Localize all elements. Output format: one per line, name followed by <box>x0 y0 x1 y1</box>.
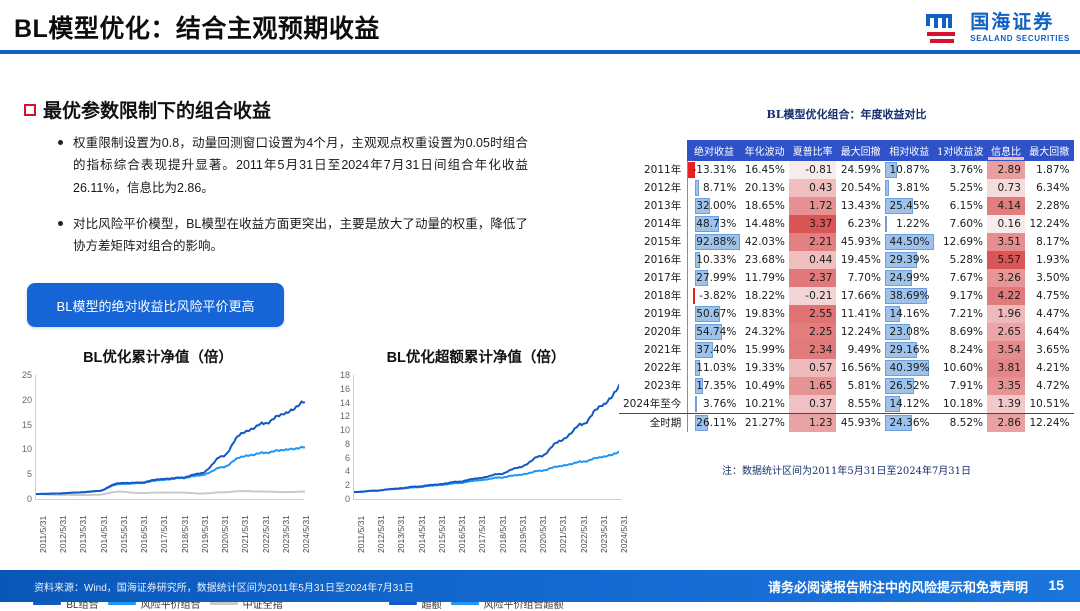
page-title: BL模型优化：结合主观预期收益 <box>14 9 380 45</box>
table-cell: 3.81 <box>987 359 1025 377</box>
cell-value: 7.70% <box>848 272 881 284</box>
cell-value: 17.66% <box>841 290 881 302</box>
cell-value: 14.12% <box>889 398 929 410</box>
cell-value: 1.87% <box>1036 164 1069 176</box>
table-cell: 11.79% <box>740 269 789 287</box>
table-row: 2024年至今3.76%10.21%0.378.55%14.12%10.18%1… <box>619 395 1074 414</box>
y-tick-label: 0 <box>345 494 350 504</box>
square-bullet-icon <box>24 104 36 116</box>
table-row-label: 2018年 <box>619 287 688 305</box>
cell-value: 26.11% <box>696 417 736 429</box>
table-row-label: 2012年 <box>619 179 688 197</box>
table-cell: 2.89 <box>987 161 1025 179</box>
table-cell: 8.69% <box>934 323 987 341</box>
cell-value: 9.49% <box>848 344 881 356</box>
series-line <box>354 451 623 492</box>
table-row: 全时期26.11%21.27%1.2345.93%24.36%8.52%2.86… <box>619 413 1074 432</box>
list-item: 权重限制设置为0.8，动量回测窗口设置为4个月，主观观点权重设置为0.05时组合… <box>58 132 528 199</box>
table-row-label: 2019年 <box>619 305 688 323</box>
x-tick-label: 2011/5/31 <box>356 516 366 553</box>
cell-value: -0.21 <box>805 290 832 302</box>
plot-box <box>35 375 304 500</box>
cell-value: 3.76% <box>703 398 736 410</box>
y-tick-label: 10 <box>340 425 350 435</box>
x-tick-label: 2024/5/31 <box>619 515 629 553</box>
cell-value: 10.49% <box>745 380 785 392</box>
x-tick-label: 2018/5/31 <box>180 515 190 553</box>
cell-value: 5.28% <box>950 254 983 266</box>
table-row-label: 2011年 <box>619 161 688 179</box>
cell-value: 5.57 <box>998 254 1021 266</box>
cell-value: 13.43% <box>841 200 881 212</box>
table-cell: 44.50% <box>885 233 934 251</box>
table-cell: 1.96 <box>987 305 1025 323</box>
bullet-text: 对比风险平价模型，BL模型在收益方面更突出，主要是放大了动量的权重，降低了协方差… <box>73 213 528 258</box>
cell-value: 5.81% <box>848 380 881 392</box>
x-tick-label: 2019/5/31 <box>200 515 210 553</box>
table-cell: 3.51 <box>987 233 1025 251</box>
cell-value: 24.32% <box>745 326 785 338</box>
cell-value: -0.81 <box>805 164 832 176</box>
y-tick-label: 20 <box>22 395 32 405</box>
table-cell: 2.34 <box>789 341 837 359</box>
table-cell: 40.39% <box>885 359 934 377</box>
y-tick-label: 5 <box>27 469 32 479</box>
table-row: 2014年48.73%14.48%3.376.23%1.22%7.60%0.16… <box>619 215 1074 233</box>
table-cell: 1.93% <box>1025 251 1074 269</box>
y-tick-label: 18 <box>340 370 350 380</box>
cell-value: 11.03% <box>696 362 736 374</box>
slide: BL模型优化：结合主观预期收益 <box>0 0 1080 602</box>
cell-value: 0.44 <box>809 254 832 266</box>
table-cell: 4.64% <box>1025 323 1074 341</box>
cell-value: 2.34 <box>809 344 832 356</box>
sealand-logo-icon <box>922 10 962 46</box>
chart-title: BL优化累计净值（倍） <box>8 346 308 367</box>
chart-plot-area: 0510152025 2011/5/312012/5/312013/5/3120… <box>8 375 308 505</box>
cell-data-bar <box>693 288 695 304</box>
cell-value: 2.37 <box>809 272 832 284</box>
cell-value: 38.69% <box>889 290 929 302</box>
table-cell: 7.91% <box>934 377 987 395</box>
table-cell: 1.72 <box>789 197 837 215</box>
y-tick-label: 16 <box>340 384 350 394</box>
table-row-label: 2017年 <box>619 269 688 287</box>
cell-value: 1.23 <box>809 417 832 429</box>
cell-value: 42.03% <box>745 236 785 248</box>
cell-data-bar <box>695 180 699 196</box>
table-cell: 4.21% <box>1025 359 1074 377</box>
table-cell: 4.47% <box>1025 305 1074 323</box>
table-cell: 38.69% <box>885 287 934 305</box>
cell-value: 3.37 <box>809 218 832 230</box>
cell-value: 3.54 <box>998 344 1021 356</box>
cell-value: 8.55% <box>848 398 881 410</box>
cell-data-bar <box>885 216 887 232</box>
x-tick-label: 2021/5/31 <box>240 515 250 553</box>
x-tick-label: 2012/5/31 <box>58 515 68 553</box>
cell-value: 8.69% <box>950 326 983 338</box>
table-cell: 2.25 <box>789 323 837 341</box>
table-title: BL模型优化组合：年度收益对比 <box>619 106 1074 122</box>
bullet-dot-icon <box>58 221 63 226</box>
table-row: 2022年11.03%19.33%0.5716.56%40.39%10.60%3… <box>619 359 1074 377</box>
table-cell: 17.66% <box>836 287 884 305</box>
cell-value: 23.08% <box>889 326 929 338</box>
cell-value: 6.15% <box>950 200 983 212</box>
cell-value: 26.52% <box>889 380 929 392</box>
x-tick-label: 2014/5/31 <box>99 515 109 553</box>
table-cell: 37.40% <box>688 341 741 359</box>
y-tick-label: 12 <box>340 411 350 421</box>
bullet-text: 权重限制设置为0.8，动量回测窗口设置为4个月，主观观点权重设置为0.05时组合… <box>73 132 528 199</box>
legend-swatch <box>108 602 136 605</box>
cell-value: 21.27% <box>745 417 785 429</box>
table-cell: 54.74% <box>688 323 741 341</box>
table-row-label: 2021年 <box>619 341 688 359</box>
table-header-row: 绝对收益年化波动夏普比率最大回撤相对收益1对收益波信息比最大回撤 <box>619 141 1074 161</box>
table-cell: 1.87% <box>1025 161 1074 179</box>
cell-value: 16.56% <box>841 362 881 374</box>
cell-value: 19.45% <box>841 254 881 266</box>
table-cell: 19.83% <box>740 305 789 323</box>
table-cell: 9.17% <box>934 287 987 305</box>
cell-data-bar <box>885 180 889 196</box>
cell-value: 0.43 <box>809 182 832 194</box>
table-row: 2016年10.33%23.68%0.4419.45%29.39%5.28%5.… <box>619 251 1074 269</box>
table-cell: 1.23 <box>789 413 837 432</box>
table-cell: 24.59% <box>836 161 884 179</box>
cell-value: 17.35% <box>696 380 736 392</box>
x-tick-label: 2020/5/31 <box>538 515 548 553</box>
x-tick-label: 2017/5/31 <box>159 515 169 553</box>
cell-value: 3.81 <box>998 362 1021 374</box>
legend-swatch <box>451 602 479 605</box>
table-cell: 7.21% <box>934 305 987 323</box>
table-cell: 27.99% <box>688 269 741 287</box>
table-row: 2019年50.67%19.83%2.5511.41%14.16%7.21%1.… <box>619 305 1074 323</box>
y-tick-label: 8 <box>345 439 350 449</box>
cell-value: 10.51% <box>1029 398 1069 410</box>
table-cell: 14.12% <box>885 395 934 414</box>
cell-value: 2.21 <box>809 236 832 248</box>
cell-value: 3.35 <box>998 380 1021 392</box>
cell-value: 6.23% <box>848 218 881 230</box>
table-row-label: 2023年 <box>619 377 688 395</box>
table-cell: 3.35 <box>987 377 1025 395</box>
cell-value: 12.24% <box>1029 417 1069 429</box>
x-tick-label: 2016/5/31 <box>457 515 467 553</box>
table-cell: 2.37 <box>789 269 837 287</box>
table-row-label: 全时期 <box>619 413 688 432</box>
x-tick-label: 2011/5/31 <box>38 516 48 553</box>
cell-value: 0.16 <box>998 218 1021 230</box>
table-cell: 1.39 <box>987 395 1025 414</box>
table-cell: 29.16% <box>885 341 934 359</box>
table-column-header: 1对收益波 <box>934 141 987 161</box>
table-cell: 24.99% <box>885 269 934 287</box>
slide-footer: 资料来源：Wind，国海证券研究所，数据统计区间为2011年5月31日至2024… <box>0 570 1080 602</box>
series-line <box>354 384 623 492</box>
table-cell: 11.03% <box>688 359 741 377</box>
table-row: 2023年17.35%10.49%1.655.81%26.52%7.91%3.3… <box>619 377 1074 395</box>
cell-value: 20.54% <box>841 182 881 194</box>
cell-value: 11.41% <box>841 308 881 320</box>
footer-source: 资料来源：Wind，国海证券研究所，数据统计区间为2011年5月31日至2024… <box>34 579 414 594</box>
bullet-dot-icon <box>58 140 63 145</box>
legend-swatch <box>210 602 238 605</box>
table-cell: 17.35% <box>688 377 741 395</box>
table-cell: 45.93% <box>836 413 884 432</box>
cell-value: 10.33% <box>696 254 736 266</box>
table-cell: 5.28% <box>934 251 987 269</box>
table-row-label: 2024年至今 <box>619 395 688 414</box>
cell-value: 10.87% <box>889 164 929 176</box>
callout-label: BL模型的绝对收益比风险平价更高 <box>57 296 255 315</box>
legend-swatch <box>389 602 417 605</box>
cell-value: 2.65 <box>998 326 1021 338</box>
cell-value: 29.39% <box>889 254 929 266</box>
cell-value: 2.86 <box>998 417 1021 429</box>
table-cell: 92.88% <box>688 233 741 251</box>
table-corner-cell <box>619 141 688 161</box>
cell-value: 48.73% <box>696 218 736 230</box>
cell-value: 3.50% <box>1036 272 1069 284</box>
cell-data-bar <box>695 396 697 412</box>
series-line <box>36 447 305 494</box>
y-tick-label: 6 <box>345 453 350 463</box>
x-tick-label: 2015/5/31 <box>437 515 447 553</box>
cell-value: 1.65 <box>809 380 832 392</box>
y-axis-labels: 024681012141618 <box>326 375 352 505</box>
cell-value: 44.50% <box>889 236 929 248</box>
table-cell: 19.33% <box>740 359 789 377</box>
x-tick-label: 2019/5/31 <box>518 515 528 553</box>
table-row-label: 2015年 <box>619 233 688 251</box>
cell-value: 25.45% <box>889 200 929 212</box>
logo-company-name-en: SEALAND SECURITIES <box>970 35 1070 43</box>
cell-value: 50.67% <box>696 308 736 320</box>
table-row: 2018年-3.82%18.22%-0.2117.66%38.69%9.17%4… <box>619 287 1074 305</box>
table-cell: 2.28% <box>1025 197 1074 215</box>
cell-value: 24.36% <box>889 417 929 429</box>
x-tick-label: 2023/5/31 <box>599 515 609 553</box>
table-cell: 14.16% <box>885 305 934 323</box>
cell-value: 7.60% <box>950 218 983 230</box>
cell-value: 16.45% <box>745 164 785 176</box>
y-tick-label: 2 <box>345 480 350 490</box>
table-cell: 4.72% <box>1025 377 1074 395</box>
cell-value: 1.93% <box>1036 254 1069 266</box>
table-cell: 18.22% <box>740 287 789 305</box>
line-series-svg <box>36 375 305 499</box>
table-row: 2012年8.71%20.13%0.4320.54%3.81%5.25%0.73… <box>619 179 1074 197</box>
cell-value: 3.76% <box>950 164 983 176</box>
cell-value: 8.24% <box>950 344 983 356</box>
table-cell: 7.67% <box>934 269 987 287</box>
cell-value: 10.60% <box>943 362 983 374</box>
table-cell: 6.15% <box>934 197 987 215</box>
chart-plot-area: 024681012141618 2011/5/312012/5/312013/5… <box>326 375 626 505</box>
cell-value: 3.51 <box>998 236 1021 248</box>
cell-value: 5.25% <box>950 182 983 194</box>
y-tick-label: 15 <box>22 420 32 430</box>
cell-value: 0.57 <box>809 362 832 374</box>
table-cell: 0.73 <box>987 179 1025 197</box>
section-heading: 最优参数限制下的组合收益 <box>24 96 271 123</box>
cell-value: 15.99% <box>745 344 785 356</box>
section-heading-label: 最优参数限制下的组合收益 <box>43 96 271 123</box>
cell-value: 45.93% <box>841 236 881 248</box>
table-cell: -0.81 <box>789 161 837 179</box>
x-tick-label: 2017/5/31 <box>477 515 487 553</box>
table-cell: -3.82% <box>688 287 741 305</box>
bullet-list: 权重限制设置为0.8，动量回测窗口设置为4个月，主观观点权重设置为0.05时组合… <box>58 132 528 271</box>
table-row-label: 2016年 <box>619 251 688 269</box>
table-cell: 8.71% <box>688 179 741 197</box>
footer-disclaimer: 请务必阅读报告附注中的风险提示和免责声明 <box>768 577 1028 596</box>
table-cell: 5.57 <box>987 251 1025 269</box>
x-tick-label: 2022/5/31 <box>261 515 271 553</box>
table-cell: 3.76% <box>688 395 741 414</box>
cell-value: 2.89 <box>998 164 1021 176</box>
y-tick-label: 10 <box>22 444 32 454</box>
table-cell: -13.31% <box>688 161 741 179</box>
table-cell: 13.43% <box>836 197 884 215</box>
cell-value: 4.21% <box>1036 362 1069 374</box>
cell-value: 24.99% <box>889 272 929 284</box>
table-cell: 4.14 <box>987 197 1025 215</box>
table-cell: 10.21% <box>740 395 789 414</box>
table-cell: 6.34% <box>1025 179 1074 197</box>
table-cell: 1.22% <box>885 215 934 233</box>
cell-value: 4.75% <box>1036 290 1069 302</box>
cell-value: 1.39 <box>998 398 1021 410</box>
table-column-header: 绝对收益 <box>688 141 741 161</box>
x-tick-label: 2014/5/31 <box>417 515 427 553</box>
table-cell: 0.57 <box>789 359 837 377</box>
y-axis-labels: 0510152025 <box>8 375 34 505</box>
cell-value: 9.17% <box>950 290 983 302</box>
table-cell: 3.37 <box>789 215 837 233</box>
x-tick-label: 2022/5/31 <box>579 515 589 553</box>
cell-value: 2.25 <box>809 326 832 338</box>
y-tick-label: 4 <box>345 466 350 476</box>
cell-value: 37.40% <box>696 344 736 356</box>
line-series-svg <box>354 375 623 499</box>
cell-value: 6.34% <box>1036 182 1069 194</box>
table-cell: 8.24% <box>934 341 987 359</box>
cell-value: 2.55 <box>809 308 832 320</box>
cell-value: 54.74% <box>696 326 736 338</box>
cell-value: -3.82% <box>699 290 736 302</box>
x-tick-label: 2015/5/31 <box>119 515 129 553</box>
table-cell: 0.37 <box>789 395 837 414</box>
table-cell: 8.55% <box>836 395 884 414</box>
cell-value: 4.64% <box>1036 326 1069 338</box>
legend-swatch <box>33 602 61 605</box>
table-cell: 23.08% <box>885 323 934 341</box>
table-row: 2015年92.88%42.03%2.2145.93%44.50%12.69%3… <box>619 233 1074 251</box>
table-cell: 8.52% <box>934 413 987 432</box>
table-cell: 3.26 <box>987 269 1025 287</box>
x-tick-label: 2024/5/31 <box>301 515 311 553</box>
table-cell: 14.48% <box>740 215 789 233</box>
cell-value: 3.26 <box>998 272 1021 284</box>
logo-company-name: 国海证券 <box>970 13 1070 32</box>
table-cell: 6.23% <box>836 215 884 233</box>
list-item: 对比风险平价模型，BL模型在收益方面更突出，主要是放大了动量的权重，降低了协方差… <box>58 213 528 258</box>
x-tick-label: 2021/5/31 <box>558 515 568 553</box>
table-cell: 12.69% <box>934 233 987 251</box>
table-cell: 50.67% <box>688 305 741 323</box>
table-cell: 3.76% <box>934 161 987 179</box>
table-cell: 26.52% <box>885 377 934 395</box>
cell-value: 8.17% <box>1036 236 1069 248</box>
table-cell: 3.50% <box>1025 269 1074 287</box>
cell-value: 1.22% <box>896 218 929 230</box>
table-row-label: 2014年 <box>619 215 688 233</box>
table-cell: 10.87% <box>885 161 934 179</box>
cell-value: 27.99% <box>696 272 736 284</box>
table-row-label: 2020年 <box>619 323 688 341</box>
cell-value: 45.93% <box>841 417 881 429</box>
table-row-label: 2013年 <box>619 197 688 215</box>
table-cell: 16.56% <box>836 359 884 377</box>
table-cell: 25.45% <box>885 197 934 215</box>
table-cell: 24.36% <box>885 413 934 432</box>
table-column-header: 年化波动 <box>740 141 789 161</box>
table-cell: 7.70% <box>836 269 884 287</box>
cell-value: 1.72 <box>809 200 832 212</box>
table-cell: 18.65% <box>740 197 789 215</box>
table-cell: 4.75% <box>1025 287 1074 305</box>
chart-excess-nav: BL优化超额累计净值（倍） 024681012141618 2011/5/312… <box>326 346 626 505</box>
table-cell: 2.86 <box>987 413 1025 432</box>
company-logo: 国海证券 SEALAND SECURITIES <box>922 8 1070 48</box>
cell-value: 0.37 <box>809 398 832 410</box>
cell-value: 10.18% <box>943 398 983 410</box>
table-cell: 3.54 <box>987 341 1025 359</box>
x-tick-label: 2016/5/31 <box>139 515 149 553</box>
table-cell: 10.18% <box>934 395 987 414</box>
table-row: 2021年37.40%15.99%2.349.49%29.16%8.24%3.5… <box>619 341 1074 359</box>
cell-value: 18.22% <box>745 290 785 302</box>
cell-value: 19.33% <box>745 362 785 374</box>
annual-returns-table: 绝对收益年化波动夏普比率最大回撤相对收益1对收益波信息比最大回撤 2011年-1… <box>619 140 1074 432</box>
y-tick-label: 0 <box>27 494 32 504</box>
cell-value: 7.67% <box>950 272 983 284</box>
cell-value: 4.14 <box>998 200 1021 212</box>
table-row: 2017年27.99%11.79%2.377.70%24.99%7.67%3.2… <box>619 269 1074 287</box>
cell-value: 23.68% <box>745 254 785 266</box>
table-cell: 4.22 <box>987 287 1025 305</box>
table-cell: 7.60% <box>934 215 987 233</box>
x-tick-label: 2013/5/31 <box>396 515 406 553</box>
y-tick-label: 25 <box>22 370 32 380</box>
x-tick-label: 2018/5/31 <box>498 515 508 553</box>
table-cell: 32.00% <box>688 197 741 215</box>
table-cell: 20.54% <box>836 179 884 197</box>
plot-box <box>353 375 622 500</box>
x-tick-label: 2020/5/31 <box>220 515 230 553</box>
table-cell: 12.24% <box>1025 215 1074 233</box>
table-cell: 0.43 <box>789 179 837 197</box>
table-row-label: 2022年 <box>619 359 688 377</box>
cell-value: 11.79% <box>745 272 785 284</box>
table-cell: 3.65% <box>1025 341 1074 359</box>
table-cell: 12.24% <box>836 323 884 341</box>
